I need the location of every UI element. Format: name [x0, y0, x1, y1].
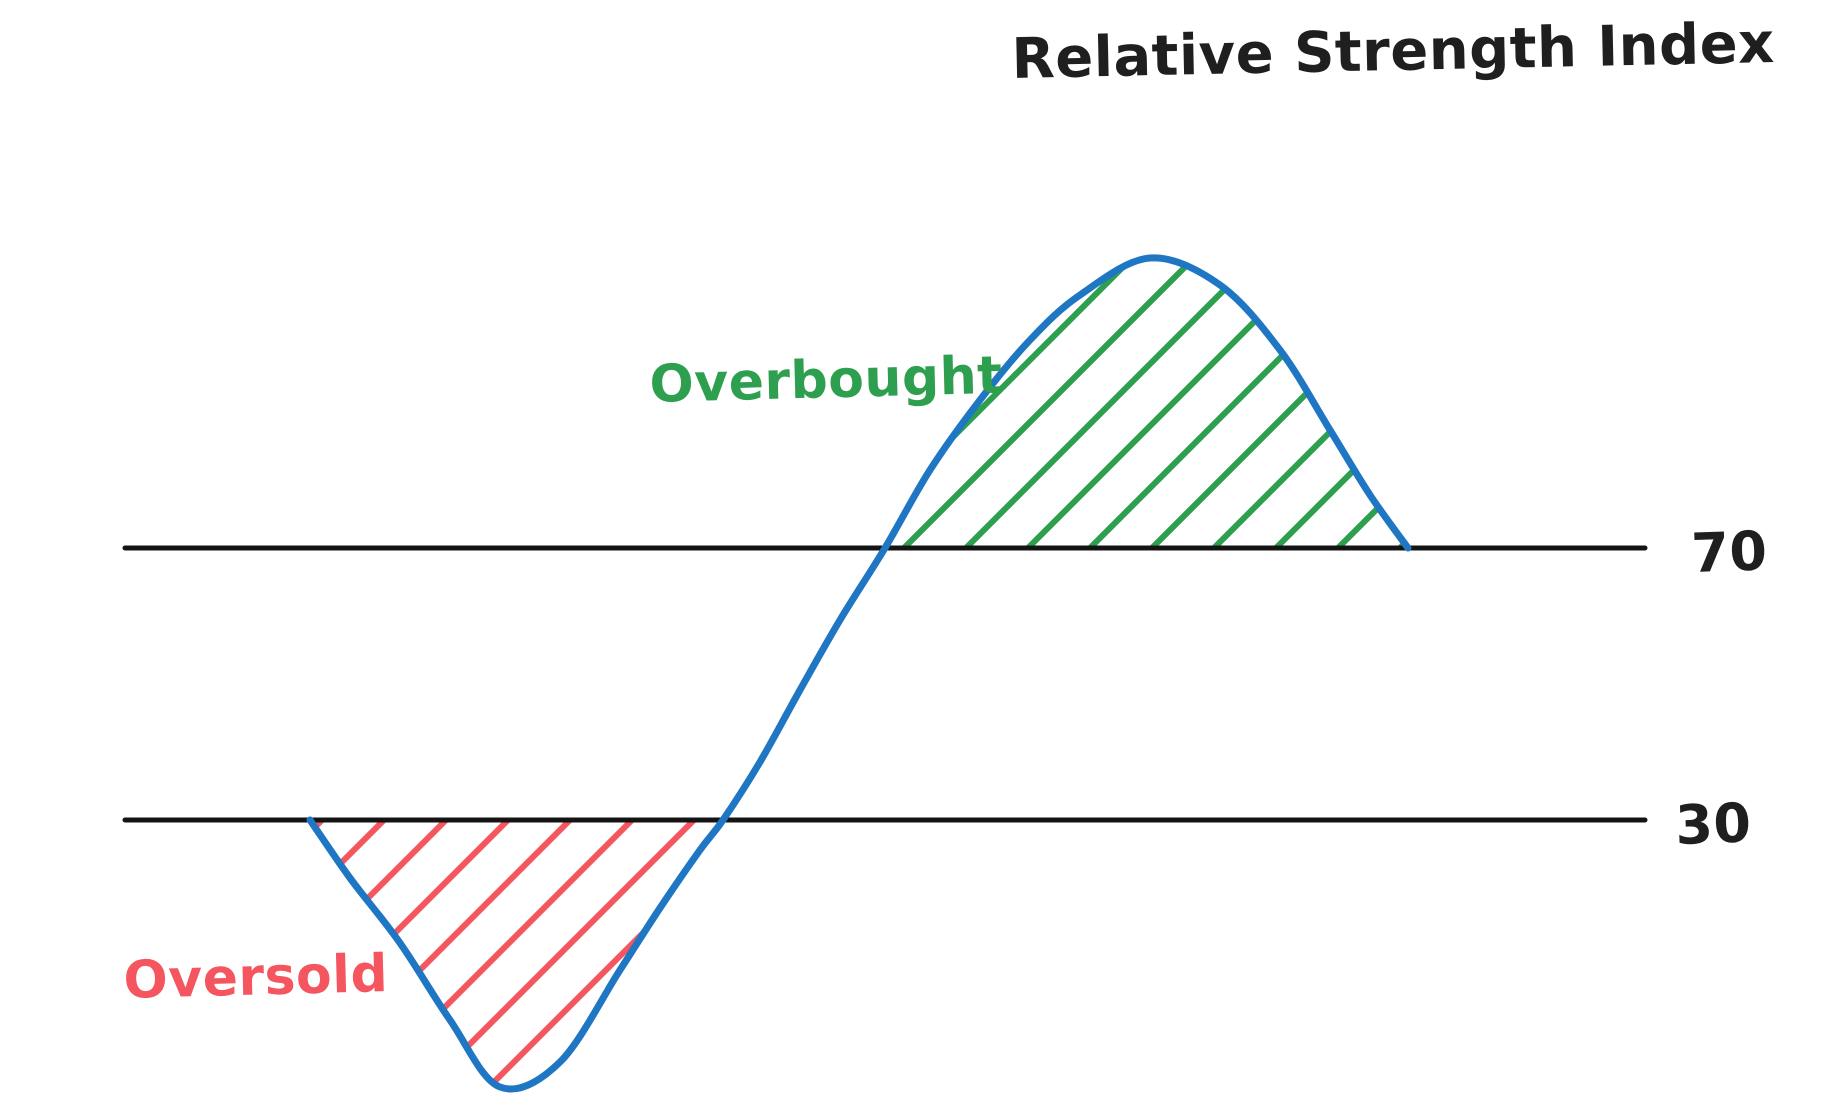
hatch-line [0, 0, 1840, 660]
hatch-line [0, 0, 1840, 1108]
hatch-line [0, 10, 1840, 1108]
hatch-line [0, 0, 1840, 1108]
hatch-line [0, 0, 1840, 1108]
hatch-line [0, 0, 1840, 1108]
hatch-line [0, 0, 1840, 1108]
hatch-line [0, 0, 1840, 1108]
hatch-line [0, 0, 1840, 1108]
hatch-line [0, 0, 1840, 1108]
hatch-line [0, 0, 1840, 598]
hatch-line [0, 0, 1840, 1108]
hatch-line [0, 0, 1840, 1108]
overbought-hatch-group [0, 0, 1840, 1108]
hatch-line [0, 0, 1840, 908]
hatch-line [0, 0, 1840, 660]
hatch-line [0, 0, 1840, 1108]
hatch-line [0, 0, 1840, 1108]
hatch-line [0, 506, 1840, 1108]
hatch-line [0, 0, 1840, 1108]
hatch-line [0, 568, 1840, 1108]
rsi-chart-canvas: Relative Strength Index 70 30 Overbought… [0, 0, 1840, 1108]
hatch-line [0, 506, 1840, 1108]
hatch-line [0, 444, 1840, 1108]
hatch-line [0, 444, 1840, 1108]
hatch-line [0, 0, 1840, 1032]
hatch-line [0, 0, 1840, 846]
hatch-line [0, 0, 1840, 1108]
hatch-line [0, 0, 1840, 1108]
hatch-line [0, 0, 1840, 1108]
hatch-line [0, 0, 1840, 1108]
hatch-line [0, 0, 1840, 1108]
hatch-line [0, 0, 1840, 1108]
hatch-line [0, 0, 1840, 1108]
hatch-line [0, 0, 1840, 1108]
hatch-line [0, 0, 1840, 1108]
hatch-line [0, 0, 1840, 1108]
hatch-line [0, 0, 1840, 1032]
hatch-line [0, 0, 1840, 1108]
oversold-hatch-group [0, 0, 1840, 1108]
hatch-line [0, 0, 1840, 1108]
hatch-line [0, 0, 1840, 846]
hatch-line [0, 0, 1840, 1108]
hatch-line [0, 0, 1840, 1108]
overbought-annotation-label: Overbought [649, 346, 1004, 415]
hatch-line [0, 568, 1840, 1108]
hatch-line [0, 0, 1840, 1108]
oversold-annotation-label: Oversold [123, 944, 389, 1011]
page-title: Relative Strength Index [1011, 11, 1775, 92]
hatch-line [0, 10, 1840, 1108]
hatch-line [0, 0, 1840, 908]
hatch-line [0, 0, 1840, 1108]
hatch-line [0, 0, 1840, 1108]
hatch-line [0, 0, 1840, 1108]
rsi-chart-svg: Relative Strength Index 70 30 Overbought… [0, 0, 1840, 1108]
lower-level-label: 30 [1674, 791, 1752, 857]
hatch-line [0, 0, 1840, 1108]
upper-level-label: 70 [1690, 519, 1768, 585]
hatch-line [0, 0, 1840, 598]
hatch-line [0, 0, 1840, 1108]
hatch-line [0, 0, 1840, 1108]
